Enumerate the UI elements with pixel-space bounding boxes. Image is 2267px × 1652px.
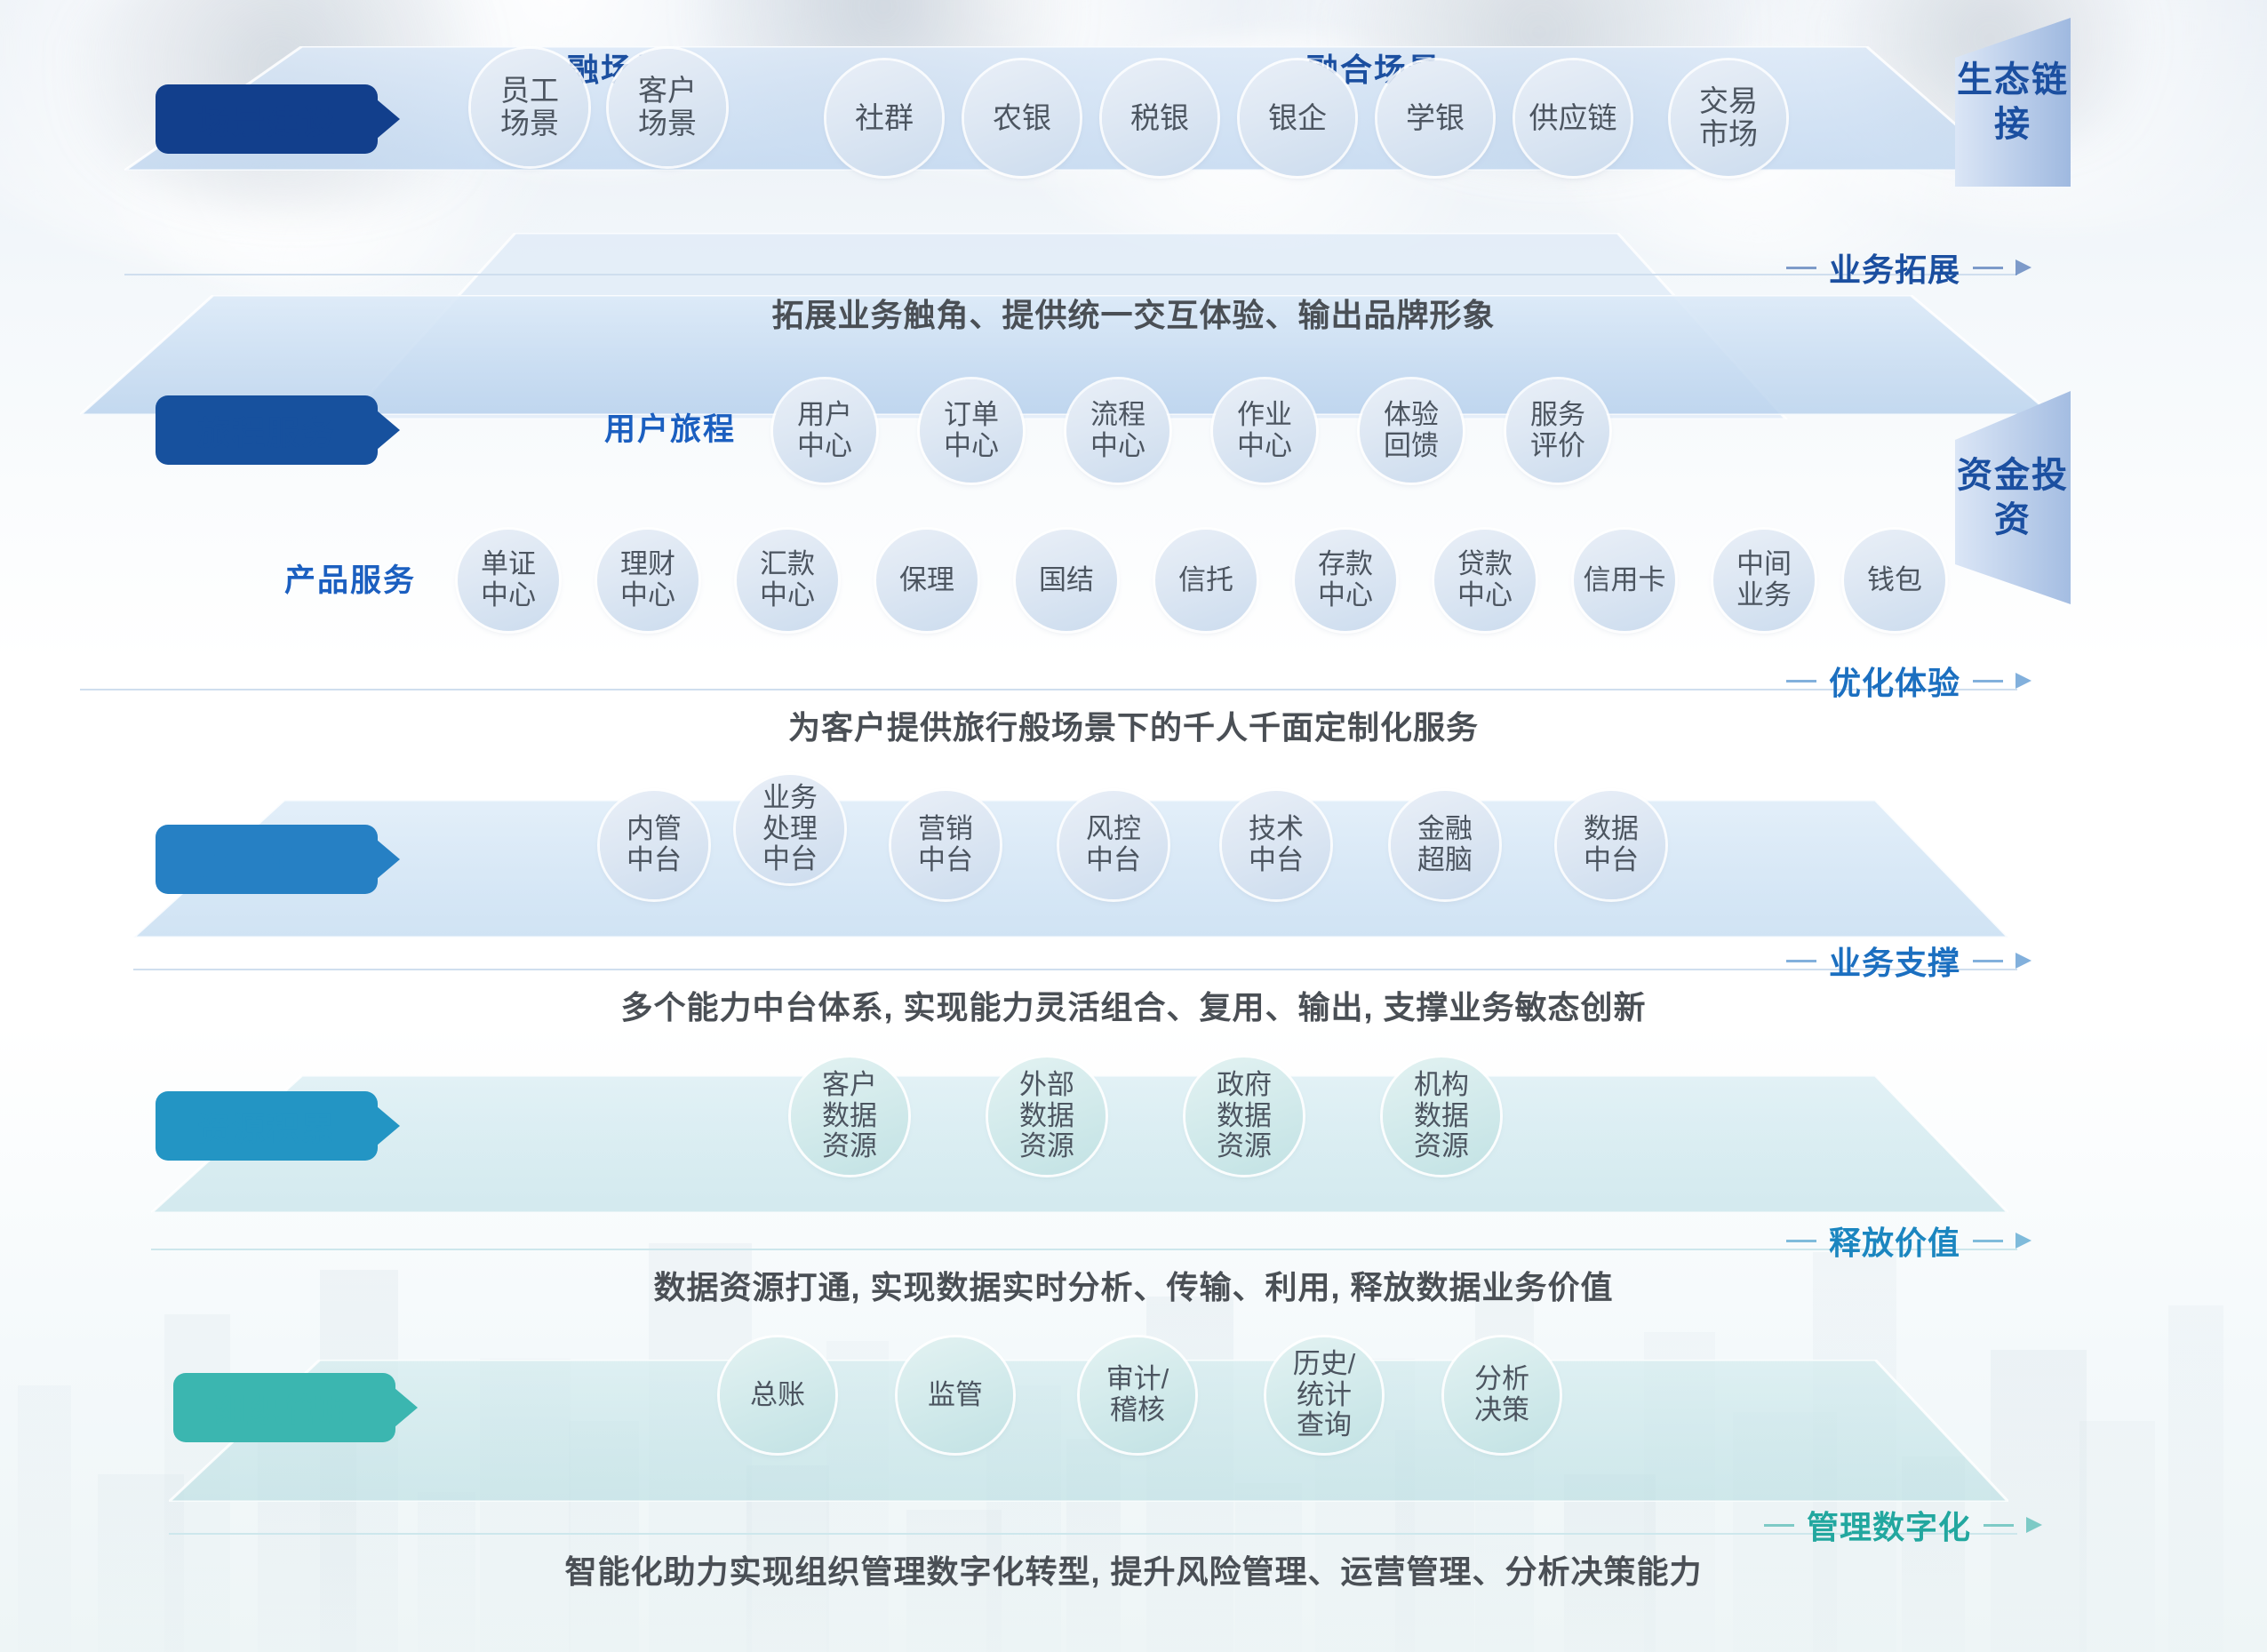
node-label: 政府数据资源 — [1217, 1070, 1272, 1162]
caption-arrow-icon — [2016, 259, 2032, 275]
node-label: 总账 — [750, 1380, 805, 1411]
node-label: 风控中台 — [1086, 814, 1141, 875]
caption-dash — [1973, 1240, 2003, 1242]
node-resource-外部-数据-资源[interactable]: 外部数据资源 — [988, 1057, 1106, 1175]
row-label-product-service: 产品服务 — [284, 555, 416, 601]
node-scene-交易-市场[interactable]: 交易市场 — [1671, 60, 1786, 176]
node-label: 流程中心 — [1090, 400, 1145, 461]
node-journey-流程-中心[interactable]: 流程中心 — [1066, 379, 1169, 483]
node-capability-业务-处理-中台[interactable]: 业务处理中台 — [736, 775, 844, 883]
node-label: 机构数据资源 — [1414, 1070, 1469, 1162]
caption-dash — [1973, 267, 2003, 269]
node-organization-总账[interactable]: 总账 — [720, 1337, 835, 1453]
caption-dash — [1786, 267, 1816, 269]
node-label: 审计/稽核 — [1106, 1364, 1169, 1425]
node-label: 客户数据资源 — [822, 1070, 877, 1162]
node-product-单证-中心[interactable]: 单证中心 — [458, 530, 559, 631]
node-label: 供应链 — [1529, 102, 1617, 135]
desc-capability: 多个能力中台体系, 实现能力灵活组合、复用、输出, 支撑业务敏态创新 — [0, 982, 2267, 1028]
node-scene-银企[interactable]: 银企 — [1240, 60, 1355, 176]
node-resource-政府-数据-资源[interactable]: 政府数据资源 — [1185, 1057, 1303, 1175]
node-label: 技术中台 — [1249, 814, 1304, 875]
node-label: 分析决策 — [1474, 1364, 1529, 1425]
node-label: 监管 — [928, 1380, 983, 1411]
node-product-理财-中心[interactable]: 理财中心 — [597, 530, 698, 631]
caption-dash — [1984, 1524, 2014, 1527]
divider-1 — [124, 274, 2017, 275]
node-product-存款-中心[interactable]: 存款中心 — [1295, 530, 1396, 631]
caption-management-digitalization: 管理数字化 — [1764, 1502, 2042, 1548]
desc-scene: 拓展业务触角、提供统一交互体验、输出品牌形象 — [0, 290, 2267, 336]
caption-dash — [1764, 1524, 1794, 1527]
node-label: 金融超脑 — [1417, 814, 1473, 875]
node-label: 数据中台 — [1584, 814, 1639, 875]
node-product-钱包[interactable]: 钱包 — [1844, 530, 1945, 631]
node-label: 税银 — [1130, 102, 1189, 135]
node-scene-社群[interactable]: 社群 — [826, 60, 942, 176]
caption-arrow-icon — [2016, 953, 2032, 969]
node-product-信用卡[interactable]: 信用卡 — [1574, 530, 1675, 631]
caption-business-support-label: 业务支撑 — [1829, 938, 1960, 984]
node-organization-监管[interactable]: 监管 — [898, 1337, 1013, 1453]
caption-release-value-label: 释放价值 — [1829, 1217, 1960, 1264]
caption-release-value: 释放价值 — [1786, 1217, 2032, 1264]
caption-dash — [1973, 960, 2003, 962]
node-journey-用户-中心[interactable]: 用户中心 — [773, 379, 876, 483]
node-label: 银企 — [1268, 102, 1327, 135]
node-label: 订单中心 — [944, 400, 999, 461]
divider-4 — [151, 1249, 2017, 1250]
caption-business-expansion-label: 业务拓展 — [1829, 244, 1960, 291]
node-label: 农银 — [993, 102, 1051, 135]
node-product-中间-业务[interactable]: 中间业务 — [1713, 530, 1815, 631]
divider-3 — [133, 969, 2017, 970]
node-capability-金融-超脑[interactable]: 金融超脑 — [1391, 791, 1499, 899]
node-label: 钱包 — [1867, 565, 1922, 596]
desc-resource: 数据资源打通, 实现数据实时分析、传输、利用, 释放数据业务价值 — [0, 1262, 2267, 1308]
node-organization-审计/-稽核[interactable]: 审计/稽核 — [1080, 1337, 1195, 1453]
tag-capability-output[interactable]: 能力输出 — [156, 825, 378, 894]
caption-arrow-icon — [2016, 1233, 2032, 1249]
node-label: 单证中心 — [481, 549, 536, 611]
node-organization-历史/-统计-查询[interactable]: 历史/统计查询 — [1266, 1337, 1382, 1453]
side-banner-funding-label: 资金投资 — [1955, 453, 2071, 542]
caption-dash — [1786, 680, 1816, 682]
node-label: 营销中台 — [918, 814, 973, 875]
divider-2 — [80, 689, 2017, 690]
node-scene-农银[interactable]: 农银 — [964, 60, 1080, 176]
node-label: 国结 — [1039, 565, 1094, 596]
side-banner-funding: 资金投资 — [1955, 391, 2071, 604]
tag-scene-construction[interactable]: 场景建设 — [156, 84, 378, 154]
node-scene-客户-场景[interactable]: 客户场景 — [609, 49, 726, 166]
node-label: 外部数据资源 — [1019, 1070, 1074, 1162]
node-product-信托[interactable]: 信托 — [1155, 530, 1257, 631]
caption-management-digitalization-label: 管理数字化 — [1807, 1502, 1971, 1548]
caption-optimize-experience-label: 优化体验 — [1829, 658, 1960, 704]
caption-dash — [1973, 680, 2003, 682]
node-product-国结[interactable]: 国结 — [1016, 530, 1117, 631]
node-label: 存款中心 — [1318, 549, 1373, 611]
caption-arrow-icon — [2016, 673, 2032, 689]
node-label: 汇款中心 — [760, 549, 815, 611]
caption-business-support: 业务支撑 — [1786, 938, 2032, 984]
divider-5 — [169, 1533, 2017, 1535]
node-product-汇款-中心[interactable]: 汇款中心 — [737, 530, 838, 631]
node-journey-体验-回馈[interactable]: 体验回馈 — [1360, 379, 1463, 483]
node-product-贷款-中心[interactable]: 贷款中心 — [1434, 530, 1536, 631]
node-label: 中间业务 — [1736, 549, 1792, 611]
node-resource-机构-数据-资源[interactable]: 机构数据资源 — [1383, 1057, 1500, 1175]
node-label: 信用卡 — [1584, 565, 1666, 596]
node-label: 客户场景 — [638, 75, 697, 140]
node-capability-风控-中台[interactable]: 风控中台 — [1059, 791, 1168, 899]
node-capability-内管-中台[interactable]: 内管中台 — [600, 791, 708, 899]
node-journey-订单-中心[interactable]: 订单中心 — [920, 379, 1023, 483]
node-scene-员工-场景[interactable]: 员工场景 — [471, 49, 588, 166]
node-organization-分析-决策[interactable]: 分析决策 — [1444, 1337, 1560, 1453]
node-resource-客户-数据-资源[interactable]: 客户数据资源 — [791, 1057, 908, 1175]
row-label-user-journey: 用户旅程 — [604, 404, 736, 450]
side-banner-ecosystem-label: 生态链接 — [1955, 58, 2071, 147]
node-label: 作业中心 — [1237, 400, 1292, 461]
node-label: 体验回馈 — [1384, 400, 1439, 461]
node-label: 信托 — [1178, 565, 1233, 596]
node-label: 学银 — [1406, 102, 1465, 135]
caption-dash — [1786, 1240, 1816, 1242]
node-scene-学银[interactable]: 学银 — [1377, 60, 1493, 176]
caption-arrow-icon — [2026, 1517, 2042, 1533]
caption-optimize-experience: 优化体验 — [1786, 658, 2032, 704]
node-label: 服务评价 — [1530, 400, 1585, 461]
node-journey-作业-中心[interactable]: 作业中心 — [1213, 379, 1316, 483]
caption-dash — [1786, 960, 1816, 962]
node-capability-数据-中台[interactable]: 数据中台 — [1557, 791, 1665, 899]
desc-organization: 智能化助力实现组织管理数字化转型, 提升风险管理、运营管理、分析决策能力 — [0, 1546, 2267, 1592]
node-scene-供应链[interactable]: 供应链 — [1515, 60, 1631, 176]
node-capability-营销-中台[interactable]: 营销中台 — [891, 791, 1000, 899]
node-label: 员工场景 — [500, 75, 559, 140]
node-label: 用户中心 — [797, 400, 852, 461]
caption-business-expansion: 业务拓展 — [1786, 244, 2032, 291]
node-label: 历史/统计查询 — [1293, 1349, 1356, 1441]
node-label: 理财中心 — [620, 549, 675, 611]
tag-journey-service[interactable]: 旅程服务 — [156, 395, 378, 465]
node-journey-服务-评价[interactable]: 服务评价 — [1506, 379, 1609, 483]
node-capability-技术-中台[interactable]: 技术中台 — [1222, 791, 1330, 899]
node-label: 内管中台 — [627, 814, 682, 875]
side-banner-ecosystem: 生态链接 — [1955, 18, 2071, 187]
node-label: 保理 — [899, 565, 954, 596]
node-scene-税银[interactable]: 税银 — [1102, 60, 1217, 176]
node-product-保理[interactable]: 保理 — [876, 530, 978, 631]
node-label: 交易市场 — [1699, 85, 1758, 151]
node-label: 贷款中心 — [1457, 549, 1513, 611]
desc-journey: 为客户提供旅行般场景下的千人千面定制化服务 — [0, 702, 2267, 748]
tag-resource-accumulation[interactable]: 资源积累 — [156, 1091, 378, 1161]
node-label: 社群 — [855, 102, 914, 135]
tag-organization-management[interactable]: 组织管理 — [173, 1373, 395, 1442]
node-label: 业务处理中台 — [762, 783, 818, 875]
